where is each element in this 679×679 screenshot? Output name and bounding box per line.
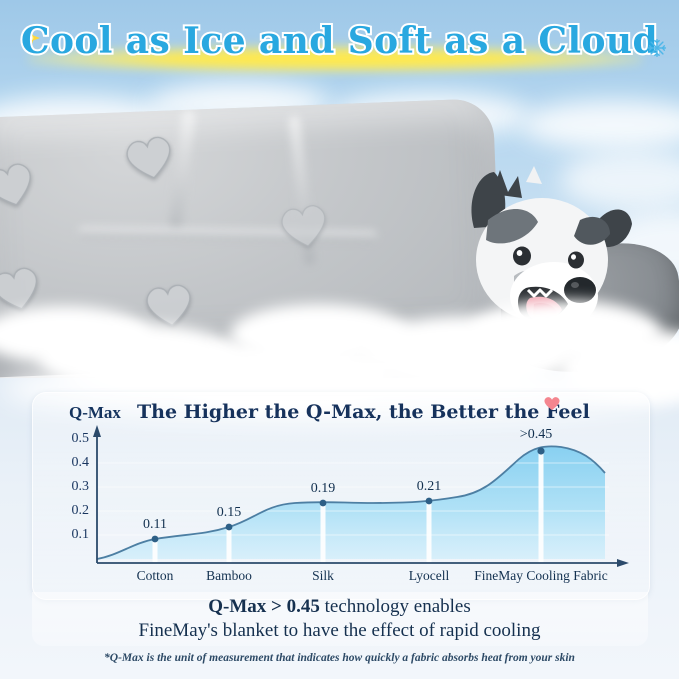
data-label-silk: 0.19	[297, 481, 349, 497]
page-title: Cool as Ice and Soft as a Cloud	[0, 20, 679, 62]
snowflake-icon	[647, 38, 667, 58]
copy-line-2: FineMay's blanket to have the effect of …	[0, 620, 679, 642]
title-band: Cool as Ice and Soft as a Cloud	[0, 0, 679, 88]
infographic-canvas: Cool as Ice and Soft as a Cloud	[0, 0, 679, 679]
copy-line-1-rest: technology enables	[320, 596, 471, 617]
y-tick-label: 0.1	[55, 527, 89, 543]
data-label-lyocell: 0.21	[403, 479, 455, 495]
y-tick-label: 0.5	[55, 431, 89, 447]
y-tick-label: 0.3	[55, 479, 89, 495]
data-label-cotton: 0.11	[129, 517, 181, 533]
x-tick-label-silk: Silk	[283, 568, 363, 584]
copy-line-1: Q-Max > 0.45 technology enables	[0, 596, 679, 618]
x-tick-label-lyocell: Lyocell	[389, 568, 469, 584]
x-tick-label-cotton: Cotton	[115, 568, 195, 584]
heart-quilt-icon	[118, 128, 181, 186]
copy-line-1-bold: Q-Max > 0.45	[208, 596, 320, 617]
x-tick-label-bamboo: Bamboo	[189, 568, 269, 584]
y-tick-label: 0.4	[55, 455, 89, 471]
x-tick-label-finemay: FineMay Cooling Fabric	[461, 568, 621, 584]
footnote-text: *Q-Max is the unit of measurement that i…	[0, 652, 679, 664]
data-label-bamboo: 0.15	[203, 505, 255, 521]
heart-quilt-icon	[274, 197, 336, 254]
data-label-finemay: >0.45	[505, 427, 567, 443]
y-tick-label: 0.2	[55, 503, 89, 519]
chart-panel: Q-Max The Higher the Q-Max, the Better t…	[32, 392, 650, 600]
heart-quilt-icon	[0, 154, 43, 215]
